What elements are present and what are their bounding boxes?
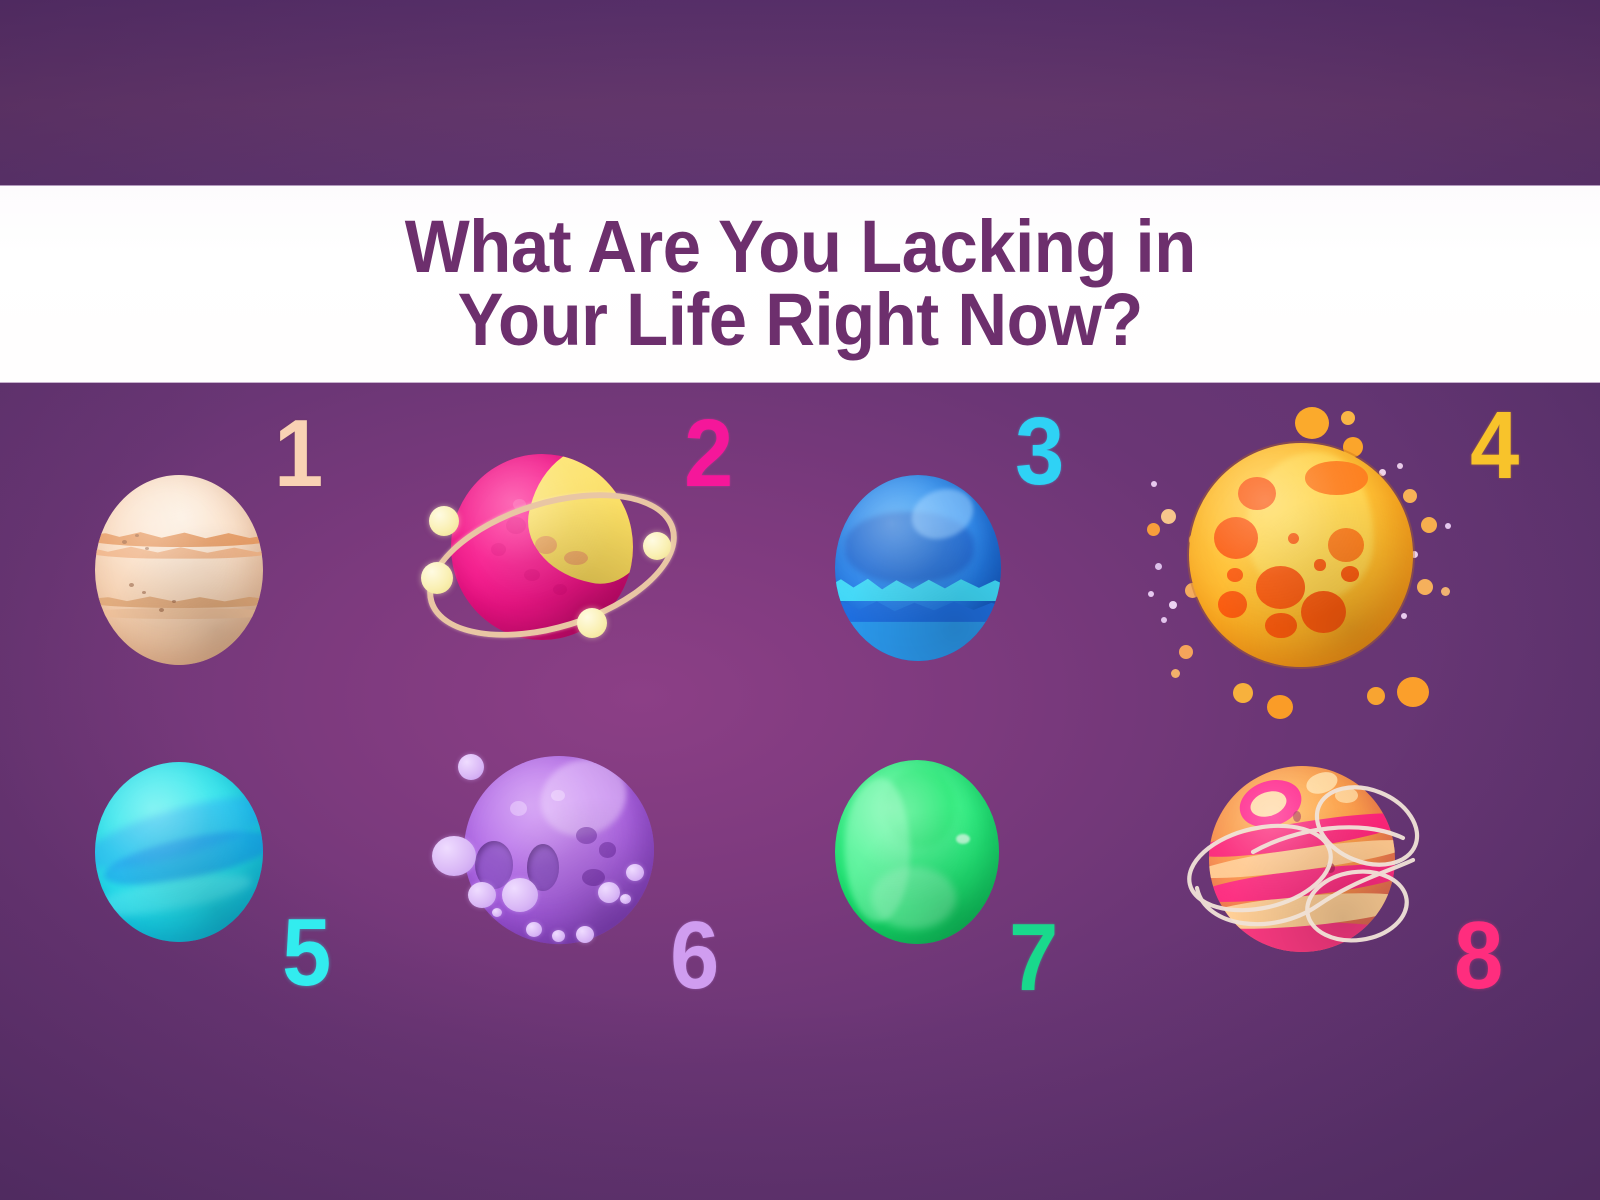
- planet-1-band-4: [95, 608, 263, 619]
- planet-7-highlight-dot: [956, 834, 970, 844]
- planet-4-crater: [1328, 528, 1364, 562]
- planet-6-body: [464, 756, 654, 944]
- planet-option-2[interactable]: [415, 430, 685, 680]
- option-number-3[interactable]: 3: [1015, 404, 1064, 500]
- planet-4-crater: [1265, 613, 1296, 638]
- planet-6-bubble: [468, 882, 496, 908]
- planet-6-crater: [510, 801, 527, 816]
- planet-option-8[interactable]: [1145, 740, 1465, 990]
- planet-2-moon: [643, 532, 671, 560]
- title-line-2: Your Life Right Now?: [404, 284, 1195, 357]
- planet-8-pin: [1293, 811, 1301, 822]
- planet-4-spark: [1397, 677, 1429, 707]
- planet-8-spot-c: [1303, 769, 1339, 798]
- planet-4-crater: [1218, 591, 1247, 618]
- planet-option-3[interactable]: [835, 475, 1001, 661]
- planet-option-1[interactable]: [95, 475, 263, 665]
- planet-4-spark: [1161, 509, 1176, 524]
- planet-4-spark: [1171, 669, 1180, 678]
- planet-4-spark: [1169, 601, 1177, 609]
- planet-6-bubble: [502, 878, 538, 912]
- planet-2-moon: [421, 562, 453, 594]
- planet-1-speck: [142, 591, 146, 594]
- planet-6-bubble: [432, 836, 476, 876]
- planet-4-spark: [1151, 481, 1157, 487]
- planet-1-speck: [129, 583, 134, 587]
- planet-6-crater: [551, 790, 564, 801]
- planet-4-crater: [1256, 566, 1305, 609]
- planet-4-crater: [1288, 533, 1299, 544]
- planet-4-spark: [1367, 687, 1385, 705]
- planet-1-speck: [122, 540, 127, 544]
- planet-option-5[interactable]: [95, 762, 263, 942]
- planet-8-pin: [1326, 863, 1335, 873]
- planet-6-bubble: [626, 864, 644, 881]
- planet-6-bubble: [598, 882, 620, 903]
- planet-4-spark: [1155, 563, 1162, 570]
- planet-4-spark: [1148, 591, 1154, 597]
- planet-1-speck: [145, 547, 149, 550]
- planet-option-4[interactable]: [1145, 395, 1475, 705]
- planet-4-spark: [1441, 587, 1450, 596]
- planet-4-crater: [1227, 568, 1243, 581]
- planet-1-band-3: [95, 595, 263, 608]
- planet-6-bubble: [552, 930, 565, 942]
- planet-6-crater: [576, 827, 597, 844]
- planet-3-band-2: [835, 600, 1001, 622]
- planet-2-moon: [429, 506, 459, 536]
- planet-4-spark: [1417, 579, 1433, 595]
- planet-4-spark: [1233, 683, 1253, 703]
- planet-1-sheen: [95, 475, 263, 665]
- planet-6-bubble: [492, 908, 502, 917]
- planet-option-6[interactable]: [430, 740, 710, 990]
- option-number-8[interactable]: 8: [1454, 908, 1503, 1004]
- planet-1-band-1: [95, 530, 263, 547]
- option-number-7[interactable]: 7: [1009, 910, 1058, 1006]
- planet-8-spot-d: [1335, 788, 1357, 803]
- planet-4-spark: [1421, 517, 1437, 533]
- option-number-4[interactable]: 4: [1470, 398, 1519, 494]
- planet-7-swirl-3: [871, 867, 956, 930]
- planet-6-bubble: [576, 926, 594, 943]
- planet-6-bubble: [526, 922, 542, 937]
- title-line-1: What Are You Lacking in: [404, 205, 1195, 288]
- planet-1-speck: [159, 608, 164, 612]
- title-banner: What Are You Lacking in Your Life Right …: [0, 186, 1600, 382]
- planet-6-bubble: [620, 894, 631, 904]
- planet-4-spark: [1445, 523, 1451, 529]
- option-number-2[interactable]: 2: [684, 406, 733, 502]
- planet-4-spark: [1147, 523, 1160, 536]
- planet-4-crater: [1341, 566, 1359, 582]
- planet-option-7[interactable]: [835, 760, 999, 944]
- planet-6-crater: [599, 842, 616, 857]
- planet-8-body: [1209, 766, 1395, 952]
- planet-4-spark: [1341, 411, 1355, 425]
- planet-4-spark: [1161, 617, 1167, 623]
- planet-4-spark: [1401, 613, 1407, 619]
- option-number-6[interactable]: 6: [670, 908, 719, 1004]
- page-title: What Are You Lacking in Your Life Right …: [404, 211, 1195, 356]
- planet-4-body: [1189, 443, 1413, 667]
- planet-3-band-3: [835, 620, 1001, 661]
- planet-4-crater: [1314, 559, 1325, 570]
- planet-2-moon: [577, 608, 607, 638]
- option-number-1[interactable]: 1: [274, 406, 323, 502]
- planet-4-spark: [1267, 695, 1293, 719]
- planet-6-crater: [582, 869, 605, 886]
- planet-4-spark: [1397, 463, 1403, 469]
- planet-6-bubble: [458, 754, 484, 780]
- option-number-5[interactable]: 5: [282, 905, 331, 1001]
- quiz-poster: What Are You Lacking in Your Life Right …: [0, 0, 1600, 1200]
- planet-4-spark: [1179, 645, 1193, 659]
- planet-4-spark: [1295, 407, 1329, 439]
- planet-4-crater: [1305, 461, 1368, 495]
- planet-4-spark: [1403, 489, 1417, 503]
- planet-4-crater: [1301, 591, 1346, 634]
